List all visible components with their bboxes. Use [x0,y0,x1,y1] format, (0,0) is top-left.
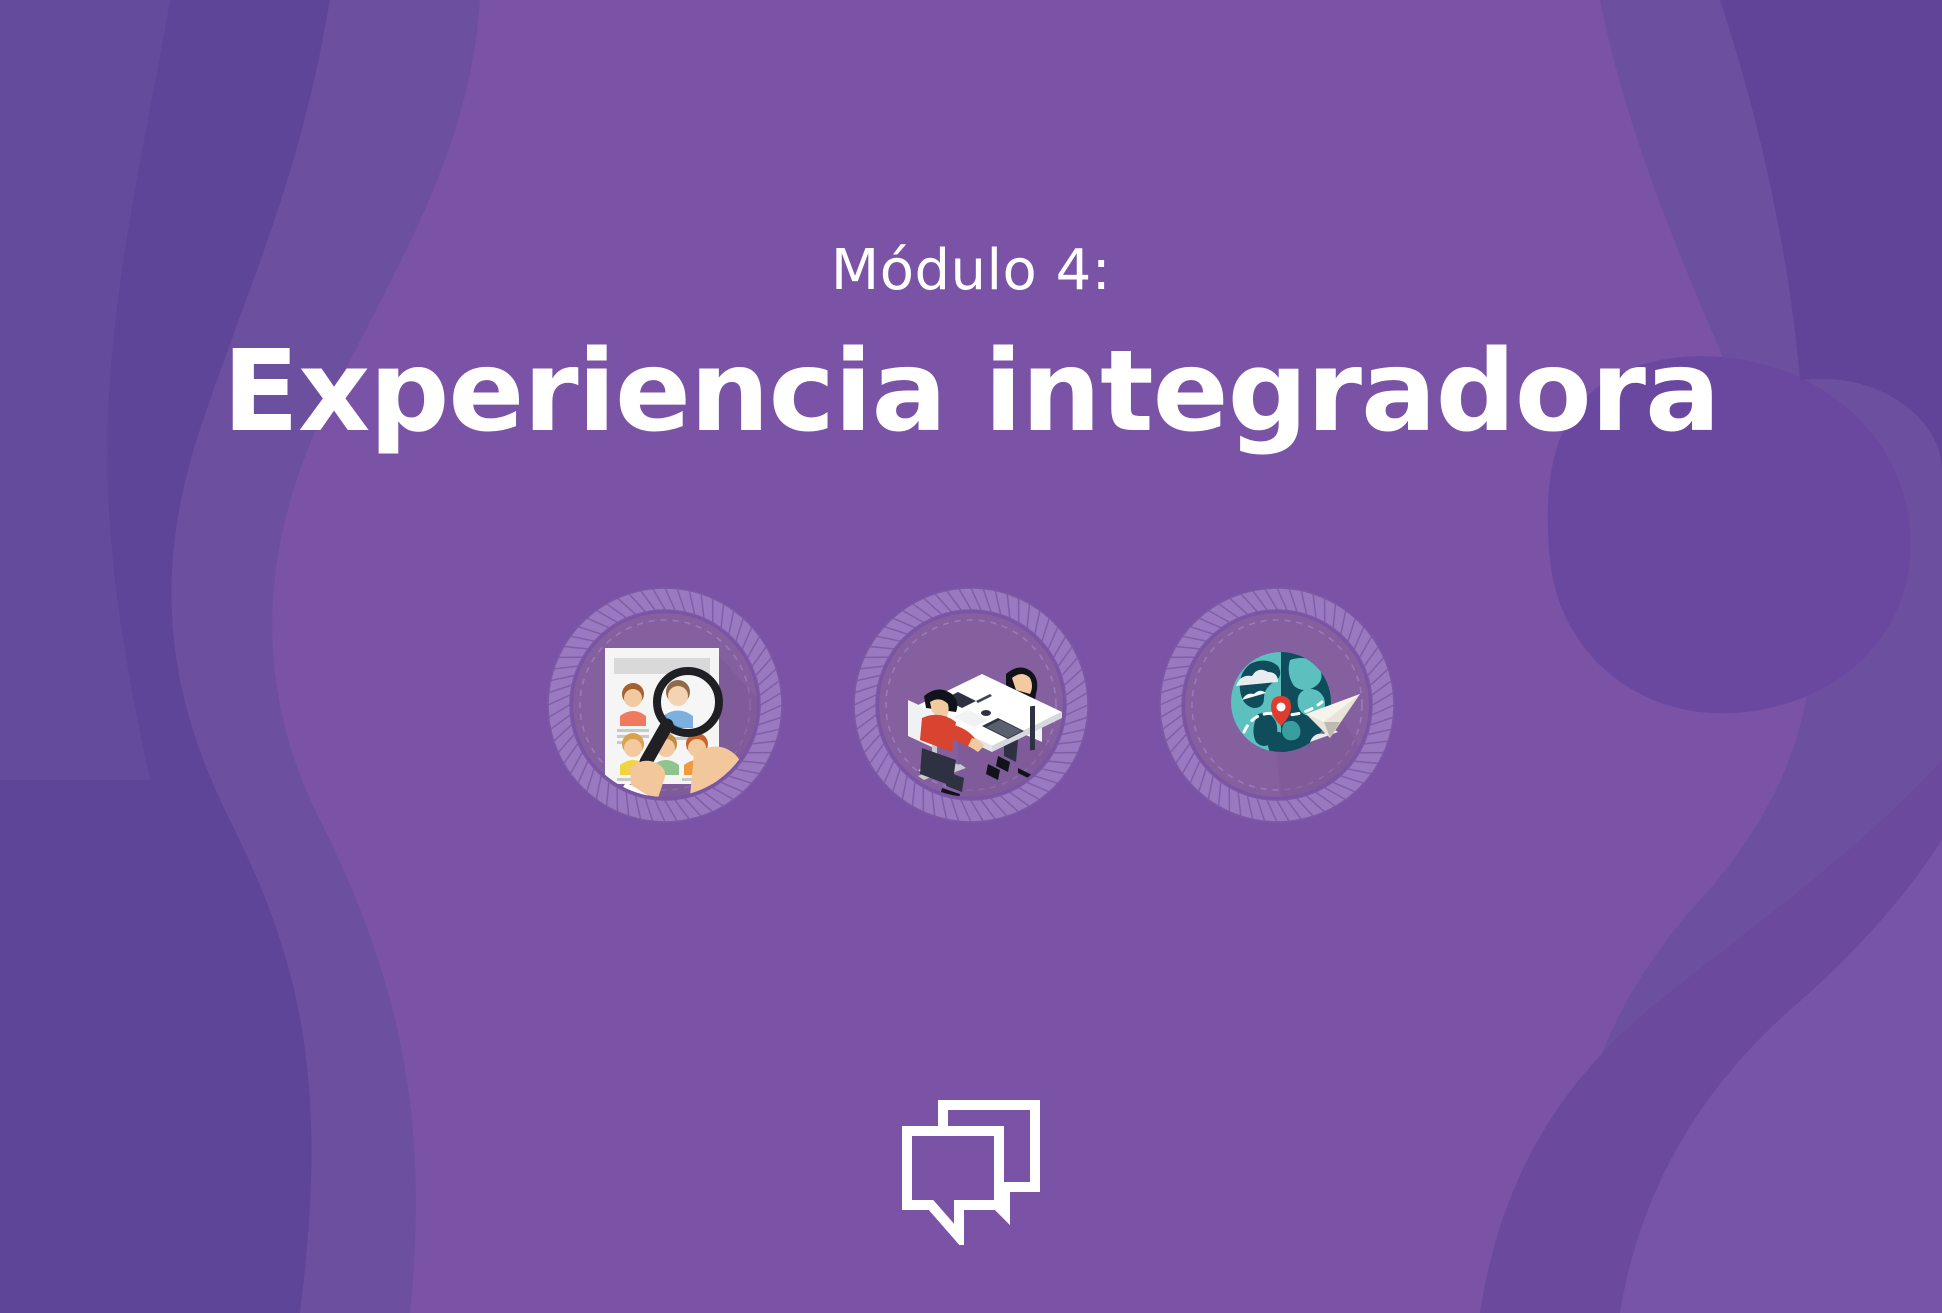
footer-icon-wrap [0,1095,1942,1249]
medallion-row [0,580,1942,830]
medallion-global-mobility [1154,582,1400,828]
module-eyebrow: Módulo 4: [0,240,1942,302]
desk-leg [1030,706,1035,751]
medallion-candidate-screening [542,582,788,828]
title-block: Módulo 4: Experiencia integradora [0,240,1942,451]
chat-bubbles-icon[interactable] [897,1095,1045,1245]
slide-canvas: Módulo 4: Experiencia integradora [0,0,1942,1313]
page-title: Experiencia integradora [0,334,1942,452]
mouse [981,710,991,716]
chat-bubble-front [907,1131,999,1237]
medallion-job-interview [848,582,1094,828]
